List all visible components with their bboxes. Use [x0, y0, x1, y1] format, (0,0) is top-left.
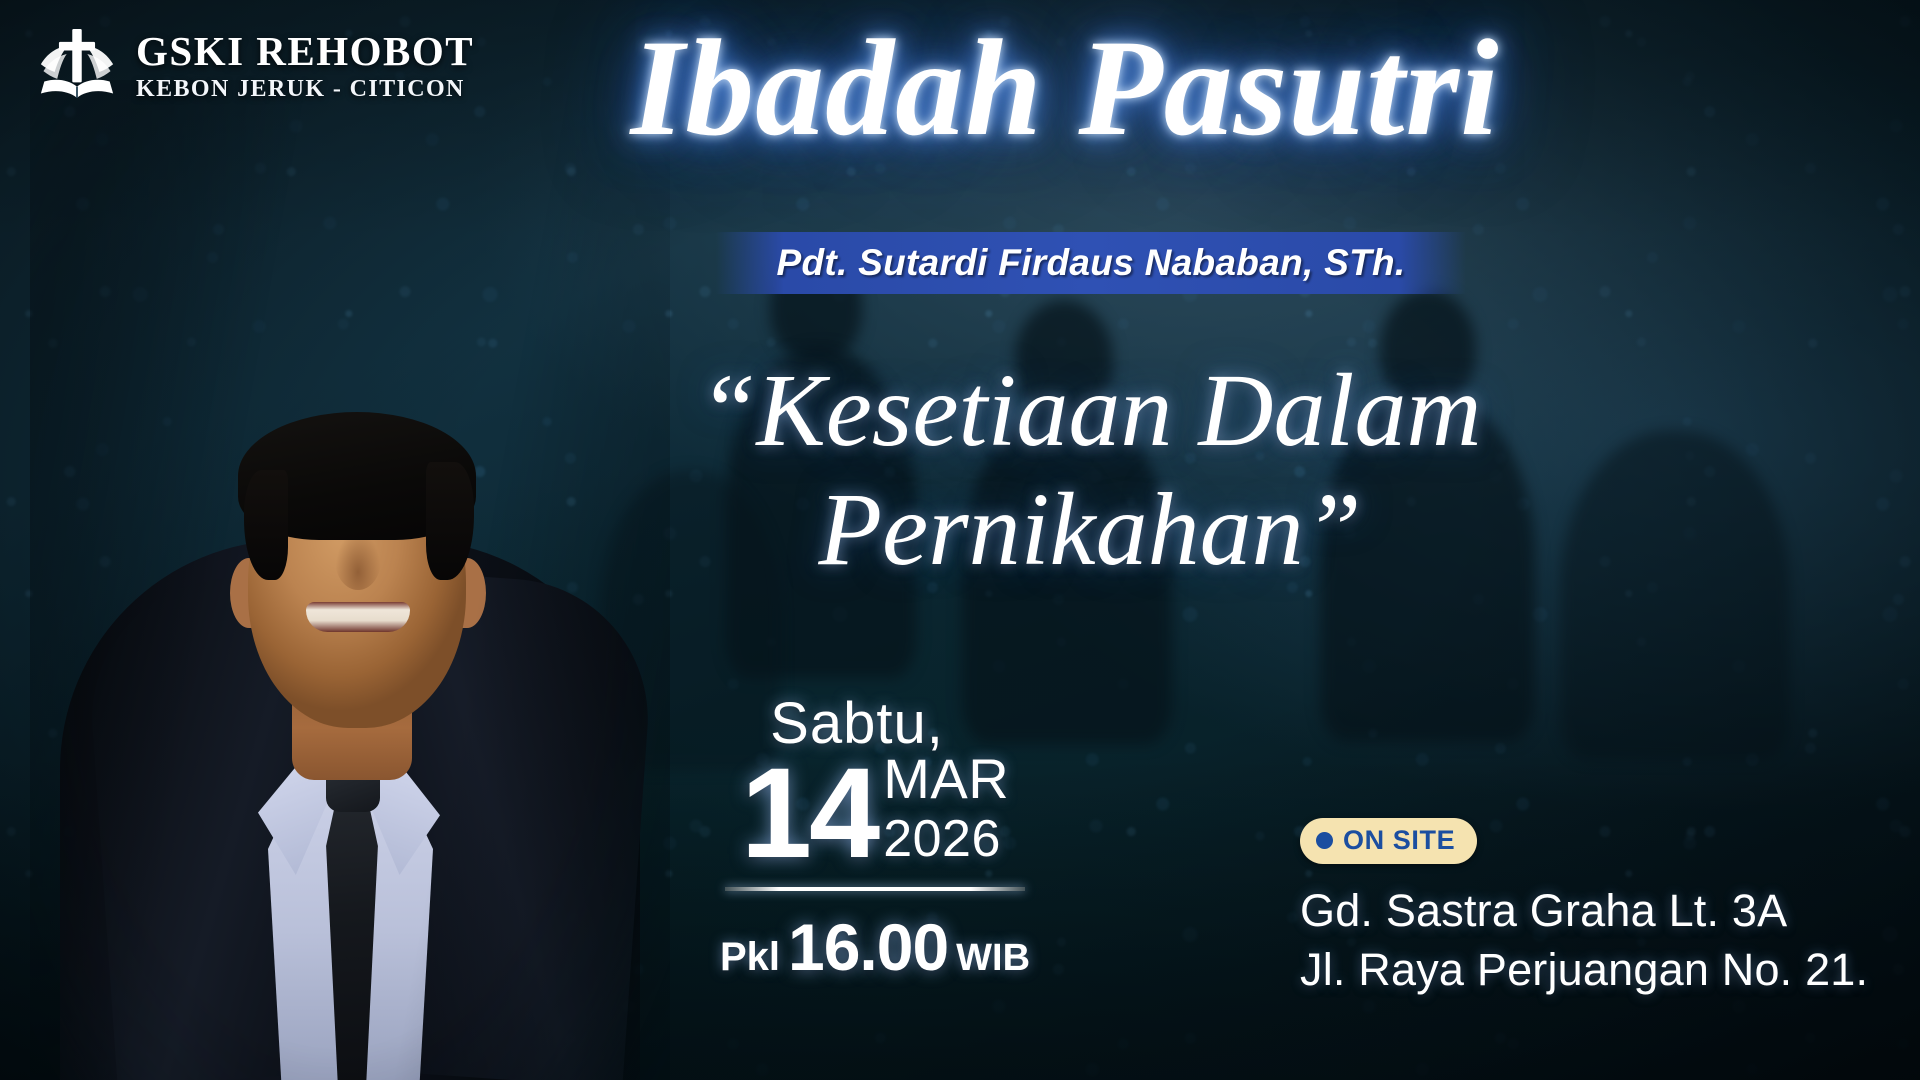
logo-subtitle: KEBON JERUK - CITICON — [136, 77, 474, 101]
on-site-badge-label: ON SITE — [1343, 825, 1455, 856]
venue-address-line-2: Jl. Raya Perjuangan No. 21. — [1300, 941, 1900, 1000]
time-prefix: Pkl — [720, 935, 780, 980]
venue-address-line-1: Gd. Sastra Graha Lt. 3A — [1300, 882, 1900, 941]
event-month: MAR — [883, 751, 1009, 807]
on-site-badge: ON SITE — [1300, 818, 1477, 864]
event-poster: GSKI REHOBOT KEBON JERUK - CITICON Ibada… — [0, 0, 1920, 1080]
church-logo: GSKI REHOBOT KEBON JERUK - CITICON — [34, 24, 474, 108]
event-day-number: 14 — [741, 756, 877, 871]
page-title: Ibadah Pasutri — [560, 18, 1570, 159]
speaker-band: Pdt. Sutardi Firdaus Nababan, STh. — [716, 232, 1466, 294]
bullet-dot-icon — [1316, 832, 1333, 849]
sermon-theme-line-1: “Kesetiaan Dalam — [560, 352, 1620, 471]
date-divider — [725, 887, 1025, 891]
sermon-theme: “Kesetiaan Dalam Pernikahan” — [560, 352, 1620, 589]
event-timezone: WIB — [956, 937, 1030, 980]
event-time: 16.00 — [788, 909, 948, 985]
speaker-name: Pdt. Sutardi Firdaus Nababan, STh. — [777, 242, 1406, 284]
event-year: 2026 — [883, 813, 1009, 865]
logo-title: GSKI REHOBOT — [136, 31, 474, 72]
venue-block: ON SITE Gd. Sastra Graha Lt. 3A Jl. Raya… — [1300, 818, 1900, 999]
open-bible-with-cross-icon — [34, 24, 120, 108]
sermon-theme-line-2: Pernikahan” — [560, 471, 1620, 590]
event-date-block: Sabtu, 14 MAR 2026 Pkl 16.00 WIB — [660, 690, 1090, 985]
